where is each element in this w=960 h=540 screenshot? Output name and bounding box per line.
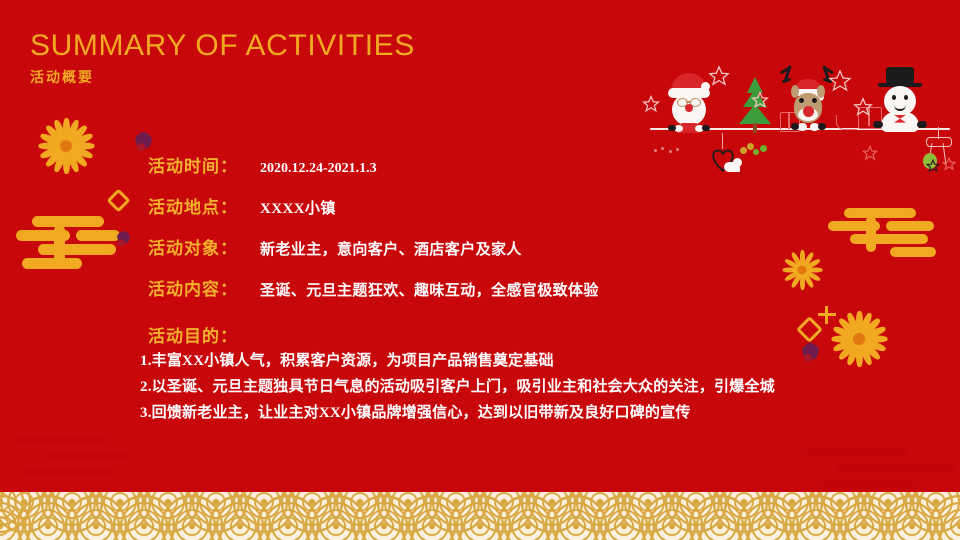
info-label: 活动内容： xyxy=(148,275,260,300)
info-row: 活动时间： 2020.12.24-2021.1.3 xyxy=(148,152,918,193)
star-outline-icon xyxy=(642,95,660,113)
info-row: 活动地点： XXXX小镇 xyxy=(148,193,918,234)
watermark-cloud-left xyxy=(10,430,160,490)
title-chinese: 活动概要 xyxy=(30,67,415,87)
purpose-label: 活动目的： xyxy=(148,322,918,347)
sled-icon xyxy=(836,115,857,130)
info-value: 新老业主，意向客户、酒店客户及家人 xyxy=(260,238,522,259)
purpose-item: 1.丰富XX小镇人气，积累客户资源，为项目产品销售奠定基础 xyxy=(140,348,940,374)
page-title: SUMMARY OF ACTIVITIES 活动概要 xyxy=(30,30,415,87)
purple-flower-icon xyxy=(110,232,132,254)
info-row: 活动对象： 新老业主，意向客户、酒店客户及家人 xyxy=(148,234,918,275)
purpose-list: 1.丰富XX小镇人气，积累客户资源，为项目产品销售奠定基础 2.以圣诞、元旦主题… xyxy=(140,348,940,426)
star-outline-icon xyxy=(751,91,769,109)
star-outline-icon xyxy=(708,65,730,87)
info-label: 活动对象： xyxy=(148,234,260,259)
star-outline-icon xyxy=(926,159,940,173)
info-value: 2020.12.24-2021.1.3 xyxy=(260,161,377,177)
info-row: 活动内容： 圣诞、元旦主题狂欢、趣味互动，全感官极致体验 xyxy=(148,275,918,316)
slide-root: SUMMARY OF ACTIVITIES 活动概要 xyxy=(0,0,960,540)
chrysanthemum-icon xyxy=(35,115,97,177)
wave-pattern xyxy=(0,492,960,540)
diamond-outline-icon xyxy=(106,188,130,212)
cloud-motif-icon xyxy=(14,216,124,274)
purpose-item: 2.以圣诞、元旦主题独具节日气息的活动吸引客户上门，吸引业主和社会大众的关注，引… xyxy=(140,374,940,400)
info-label: 活动时间： xyxy=(148,152,260,177)
title-english: SUMMARY OF ACTIVITIES xyxy=(30,30,415,62)
info-value: 圣诞、元旦主题狂欢、趣味互动，全感官极致体验 xyxy=(260,279,599,300)
purpose-item: 3.回馈新老业主，让业主对XX小镇品牌增强信心，达到以旧带新及良好口碑的宣传 xyxy=(140,400,940,426)
star-outline-icon xyxy=(828,69,852,93)
star-outline-icon xyxy=(853,97,873,117)
activity-info-list: 活动时间： 2020.12.24-2021.1.3 活动地点： XXXX小镇 活… xyxy=(148,152,918,347)
info-value: XXXX小镇 xyxy=(260,197,336,218)
seigaiha-wave-border xyxy=(0,492,960,540)
snowman-icon xyxy=(868,67,932,131)
info-label: 活动地点： xyxy=(148,193,260,218)
